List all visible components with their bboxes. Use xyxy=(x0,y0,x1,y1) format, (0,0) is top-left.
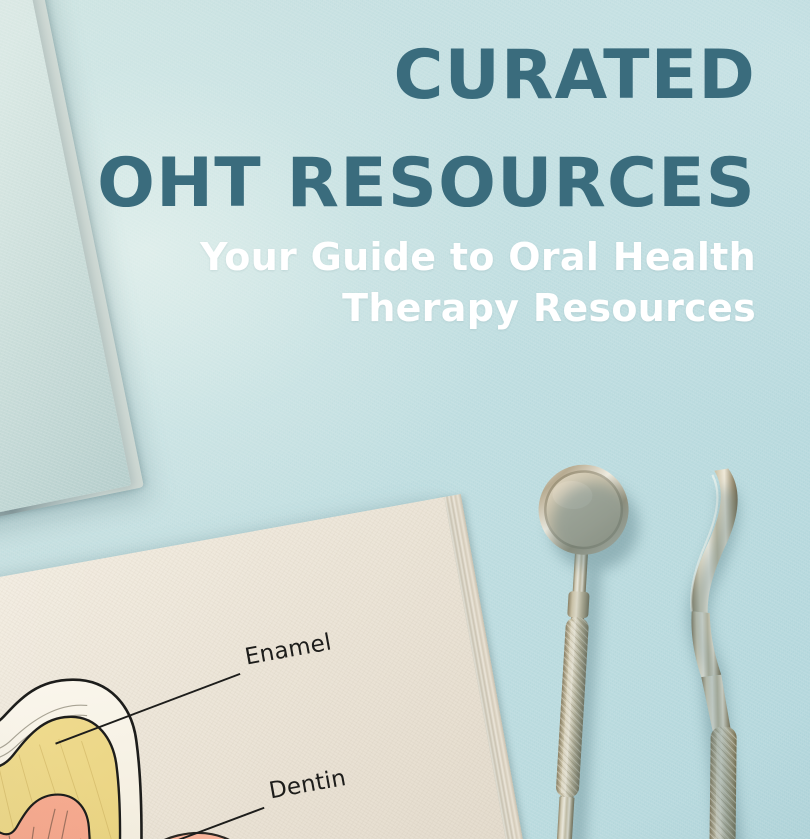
poster-title-line-2: OHT RESOURCES xyxy=(40,150,756,218)
poster-headline: CURATED OHT RESOURCES Your Guide to Oral… xyxy=(40,42,756,333)
poster-canvas: Enamel Dentin Pulp Bone xyxy=(0,0,810,839)
poster-title-line-1: CURATED xyxy=(40,42,756,110)
poster-subtitle: Your Guide to Oral Health Therapy Resour… xyxy=(40,232,756,333)
